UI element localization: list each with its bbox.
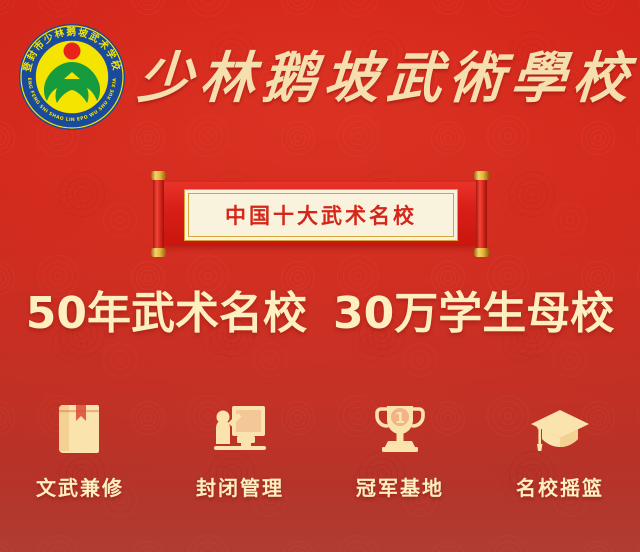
teacher-blackboard-icon <box>210 398 270 454</box>
title-char-5: 武 <box>385 50 444 105</box>
feature-item-0: 文武兼修 <box>0 398 160 501</box>
title-char-4: 坡 <box>322 50 381 105</box>
scroll-roller-right-icon <box>474 168 489 260</box>
headline: 50年武术名校30万学生母校 <box>0 292 640 336</box>
feature-list: 文武兼修 封闭管理 <box>0 398 640 501</box>
feature-label-1: 封闭管理 <box>196 472 284 501</box>
title-char-8: 校 <box>571 50 630 105</box>
feature-item-1: 封闭管理 <box>160 398 320 501</box>
title-char-1: 少 <box>136 50 195 105</box>
feature-item-3: 名校摇篮 <box>480 398 640 501</box>
feature-label-2: 冠军基地 <box>356 472 444 501</box>
scroll-panel: 中国十大武术名校 <box>184 189 458 241</box>
feature-label-3: 名校摇篮 <box>516 472 604 501</box>
title-char-6: 術 <box>447 50 506 105</box>
feature-item-2: 1 冠军基地 <box>320 398 480 501</box>
promo-poster: 登封市少林鹅坡武术学校 DENG FENG SHI SHAO LIN EPO W… <box>0 0 640 552</box>
trophy-number-one-icon: 1 <box>370 398 430 454</box>
school-logo: 登封市少林鹅坡武术学校 DENG FENG SHI SHAO LIN EPO W… <box>16 21 128 133</box>
title-char-3: 鹅 <box>260 50 319 105</box>
book-bookmark-icon <box>50 398 110 454</box>
poster-header: 登封市少林鹅坡武术学校 DENG FENG SHI SHAO LIN EPO W… <box>0 0 640 150</box>
scroll-banner: 中国十大武术名校 <box>142 168 498 260</box>
school-name-title: 少 林 鹅 坡 武 術 學 校 <box>138 38 628 116</box>
feature-label-0: 文武兼修 <box>36 472 124 501</box>
headline-right: 30万学生母校 <box>333 288 614 339</box>
title-char-2: 林 <box>198 50 257 105</box>
scroll-roller-left-icon <box>151 168 166 260</box>
headline-left: 50年武术名校 <box>26 288 307 339</box>
svg-text:1: 1 <box>395 409 405 427</box>
scroll-banner-text: 中国十大武术名校 <box>225 200 417 230</box>
graduation-cap-icon <box>530 398 590 454</box>
title-char-7: 學 <box>509 50 568 105</box>
